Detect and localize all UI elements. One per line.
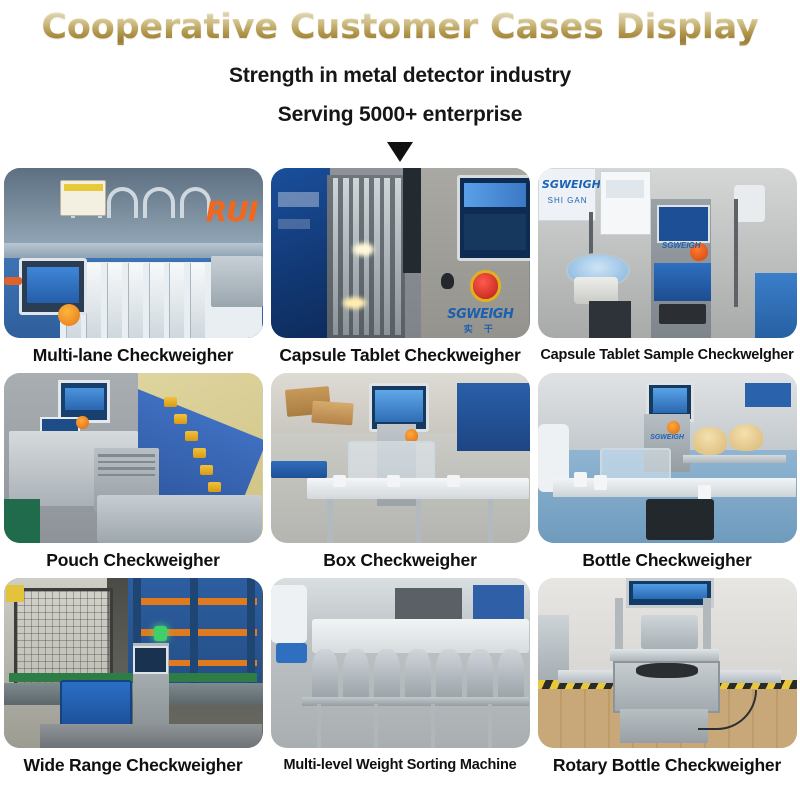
case-card-rotary-bottle[interactable]: Rotary Bottle Checkweigher <box>535 578 800 783</box>
photo-brand-sgweigh: SGWEIGH 实 干 <box>436 307 524 335</box>
case-card-box[interactable]: Box Checkweigher <box>268 373 533 578</box>
case-card-multi-lane[interactable]: RUI Multi-lane Checkweigher <box>1 168 266 373</box>
case-caption: Rotary Bottle Checkweigher <box>535 748 800 783</box>
subtitle-line-1: Strength in metal detector industry <box>0 59 800 92</box>
case-caption: Multi-level Weight Sorting Machine <box>268 748 533 783</box>
arrow-divider <box>0 135 800 169</box>
page-header: Cooperative Customer Cases Display Stren… <box>0 0 800 169</box>
cases-display-page: Cooperative Customer Cases Display Stren… <box>0 0 800 800</box>
photo-brand-rui: RUI <box>206 195 258 228</box>
case-card-multi-level-sorting[interactable]: Multi-level Weight Sorting Machine <box>268 578 533 783</box>
case-photo-rotary-bottle[interactable] <box>538 578 797 748</box>
case-caption: Capsule Tablet Sample Checkwelgher <box>535 338 800 373</box>
case-caption: Bottle Checkweigher <box>535 543 800 578</box>
case-caption: Multi-lane Checkweigher <box>1 338 266 373</box>
case-photo-wide-range[interactable] <box>4 578 263 748</box>
case-caption: Box Checkweigher <box>268 543 533 578</box>
case-caption: Wide Range Checkweigher <box>1 748 266 783</box>
case-photo-multi-lane[interactable]: RUI <box>4 168 263 338</box>
case-photo-bottle[interactable]: SGWEIGH <box>538 373 797 543</box>
case-photo-capsule-tablet-sample[interactable]: SGWEIGH SHI GAN SGWEIGH <box>538 168 797 338</box>
case-card-capsule-tablet[interactable]: SGWEIGH 实 干 Capsule Tablet Checkweigher <box>268 168 533 373</box>
triangle-down-icon <box>387 142 413 162</box>
case-caption: Capsule Tablet Checkweigher <box>268 338 533 373</box>
case-card-pouch[interactable]: Pouch Checkweigher <box>1 373 266 578</box>
case-gallery-grid: RUI Multi-lane Checkweigher <box>0 168 800 783</box>
case-card-wide-range[interactable]: Wide Range Checkweigher <box>1 578 266 783</box>
case-card-bottle[interactable]: SGWEIGH Bottle Checkweigher <box>535 373 800 578</box>
case-photo-pouch[interactable] <box>4 373 263 543</box>
page-title: Cooperative Customer Cases Display <box>0 4 800 50</box>
case-photo-multi-level-sorting[interactable] <box>271 578 530 748</box>
photo-banner-brand: SGWEIGH <box>542 178 601 191</box>
case-card-capsule-tablet-sample[interactable]: SGWEIGH SHI GAN SGWEIGH Capsule Tablet S… <box>535 168 800 373</box>
photo-banner-sub: SHI GAN <box>548 196 588 205</box>
case-photo-capsule-tablet[interactable]: SGWEIGH 实 干 <box>271 168 530 338</box>
case-caption: Pouch Checkweigher <box>1 543 266 578</box>
case-photo-box[interactable] <box>271 373 530 543</box>
emergency-stop-button <box>473 273 499 299</box>
subtitle-line-2: Serving 5000+ enterprise <box>0 98 800 131</box>
